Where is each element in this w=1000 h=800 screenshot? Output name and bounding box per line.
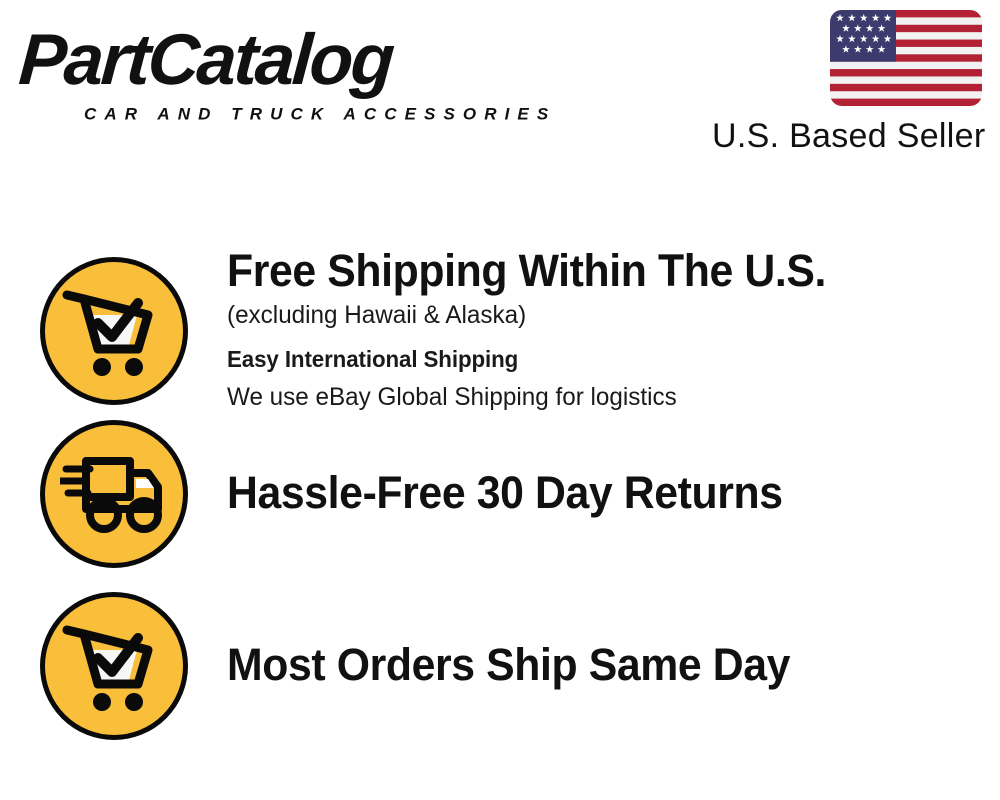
- feature-headline: Free Shipping Within The U.S.: [227, 245, 942, 297]
- brand-wordmark: PartCatalog: [16, 20, 394, 100]
- feature-row: Most Orders Ship Same Day: [40, 592, 980, 740]
- feature-text-block: Hassle-Free 30 Day Returns: [188, 467, 980, 521]
- feature-headline: Hassle-Free 30 Day Returns: [227, 467, 942, 519]
- feature-text-block: Most Orders Ship Same Day: [188, 639, 980, 693]
- us-based-seller-label: U.S. Based Seller: [712, 116, 982, 156]
- feature-subtext: (excluding Hawaii & Alaska): [227, 297, 957, 333]
- shopping-cart-check-icon: [40, 257, 188, 405]
- brand-tagline: CAR AND TRUCK ACCESSORIES: [84, 105, 556, 124]
- feature-subtext-secondary: We use eBay Global Shipping for logistic…: [227, 379, 957, 415]
- shopping-cart-check-icon: [40, 592, 188, 740]
- feature-headline: Most Orders Ship Same Day: [227, 639, 942, 691]
- feature-row: Free Shipping Within The U.S. (excluding…: [40, 245, 980, 417]
- seller-info-banner: PartCatalog CAR AND TRUCK ACCESSORIES: [0, 0, 1000, 800]
- partcatalog-logo: PartCatalog CAR AND TRUCK ACCESSORIES: [22, 20, 492, 115]
- delivery-truck-icon: [40, 420, 188, 568]
- us-based-seller-badge: U.S. Based Seller: [712, 10, 982, 156]
- feature-subheading: Easy International Shipping: [227, 339, 957, 379]
- feature-text-block: Free Shipping Within The U.S. (excluding…: [188, 245, 980, 417]
- feature-row: Hassle-Free 30 Day Returns: [40, 420, 980, 568]
- us-flag-icon: [830, 10, 982, 106]
